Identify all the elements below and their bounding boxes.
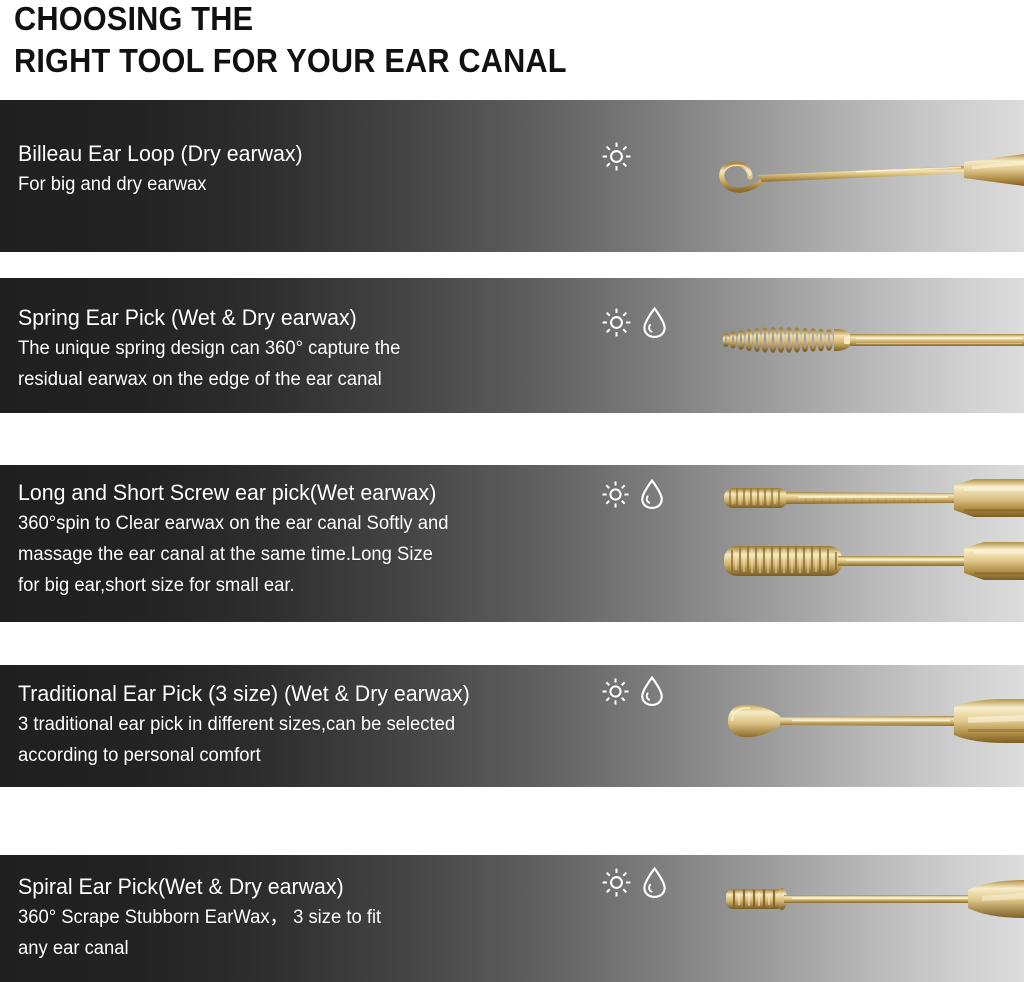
tool-image-spring-ear-pick [706, 313, 1024, 372]
product-row-spring-ear-pick: Spring Ear Pick (Wet & Dry earwax) The u… [0, 278, 1024, 413]
row-title: Billeau Ear Loop (Dry earwax) [18, 138, 600, 169]
row-title: Long and Short Screw ear pick(Wet earwax… [18, 477, 600, 508]
earwax-type-icons [601, 675, 665, 712]
sun-icon [601, 867, 632, 903]
tool-image-traditional-ear-pick [706, 695, 1024, 752]
row-description-line: For big and dry earwax [18, 169, 600, 200]
row-title: Spiral Ear Pick(Wet & Dry earwax) [18, 871, 600, 902]
row-description-line: 360° Scrape Stubborn EarWax， 3 size to f… [18, 902, 600, 933]
product-row-traditional-ear-pick: Traditional Ear Pick (3 size) (Wet & Dry… [0, 665, 1024, 787]
row-title: Spring Ear Pick (Wet & Dry earwax) [18, 302, 600, 333]
row-title: Traditional Ear Pick (3 size) (Wet & Dry… [18, 678, 600, 709]
tool-image-spiral-ear-pick [706, 874, 1024, 929]
row-description-line: according to personal comfort [18, 740, 600, 771]
page-title-line-1: CHOOSING THE [14, 0, 944, 40]
row-text-block: Spiral Ear Pick(Wet & Dry earwax) 360° S… [18, 871, 618, 964]
row-description-line: any ear canal [18, 933, 600, 964]
row-description-line: residual earwax on the edge of the ear c… [18, 364, 600, 395]
tool-image-billeau-loop [706, 146, 1024, 213]
earwax-type-icons [601, 866, 668, 904]
page-title: CHOOSING THE RIGHT TOOL FOR YOUR EAR CAN… [14, 0, 1014, 96]
sun-icon [601, 307, 632, 343]
row-description-line: for big ear,short size for small ear. [18, 570, 600, 601]
row-text-block: Traditional Ear Pick (3 size) (Wet & Dry… [18, 678, 618, 771]
row-text-block: Billeau Ear Loop (Dry earwax) For big an… [18, 138, 618, 200]
sun-icon [601, 480, 630, 514]
row-description-line: The unique spring design can 360° captur… [18, 333, 600, 364]
product-row-screw-ear-pick: Long and Short Screw ear pick(Wet earwax… [0, 465, 1024, 622]
row-text-block: Spring Ear Pick (Wet & Dry earwax) The u… [18, 302, 618, 395]
tool-image-short-screw-ear-pick [706, 473, 1024, 528]
sun-icon [601, 141, 632, 177]
earwax-type-icons [601, 141, 632, 177]
product-row-billeau-ear-loop: Billeau Ear Loop (Dry earwax) For big an… [0, 100, 1024, 252]
row-description-line: 3 traditional ear pick in different size… [18, 709, 600, 740]
sun-icon [601, 677, 630, 711]
water-drop-icon [639, 478, 665, 515]
row-description-line: massage the ear canal at the same time.L… [18, 539, 600, 570]
earwax-type-icons [601, 306, 668, 344]
page-title-line-2: RIGHT TOOL FOR YOUR EAR CANAL [14, 40, 944, 82]
tool-image-long-screw-ear-pick [706, 534, 1024, 593]
product-row-spiral-ear-pick: Spiral Ear Pick(Wet & Dry earwax) 360° S… [0, 855, 1024, 982]
water-drop-icon [641, 306, 668, 344]
row-description-line: 360°spin to Clear earwax on the ear cana… [18, 508, 600, 539]
earwax-type-icons [601, 478, 665, 515]
water-drop-icon [639, 675, 665, 712]
water-drop-icon [641, 866, 668, 904]
row-text-block: Long and Short Screw ear pick(Wet earwax… [18, 477, 618, 601]
